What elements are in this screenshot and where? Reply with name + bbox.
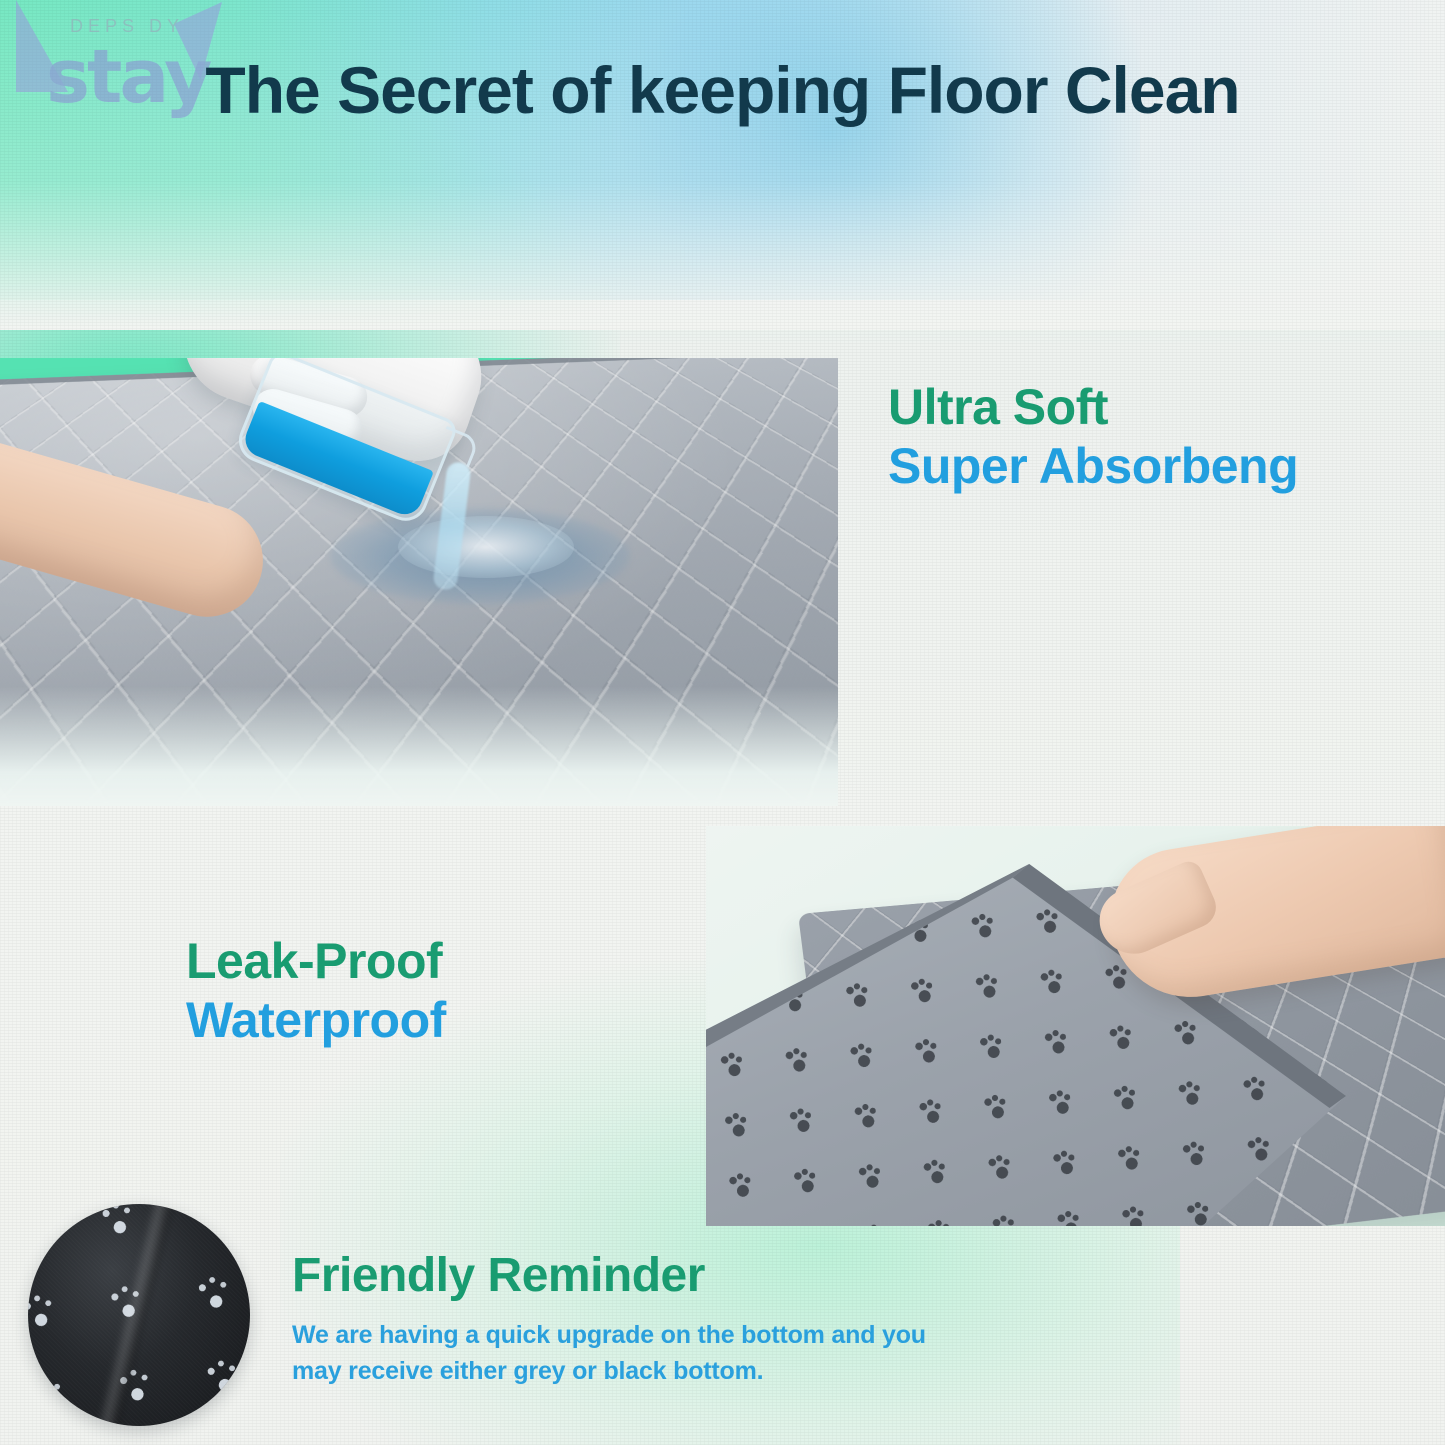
feature-block-left: Leak-Proof Waterproof	[186, 932, 646, 1050]
photo-bottom-fade	[0, 686, 838, 806]
page-title: The Secret of keeping Floor Clean	[0, 52, 1445, 128]
feature-block-right: Ultra Soft Super Absorbeng	[888, 378, 1388, 496]
photo-black-fabric-swatch	[28, 1204, 250, 1426]
friendly-reminder-block: Friendly Reminder We are having a quick …	[292, 1248, 982, 1389]
photo-folded-mat-pawprint-bottom	[706, 826, 1445, 1226]
liquid-splash	[398, 516, 574, 578]
photo-liquid-pour-test	[0, 358, 838, 806]
feature-leak-proof: Leak-Proof	[186, 932, 646, 991]
feature-super-absorbent: Super Absorbeng	[888, 437, 1388, 496]
feature-waterproof: Waterproof	[186, 991, 646, 1050]
reminder-title: Friendly Reminder	[292, 1248, 982, 1303]
fabric-grain-texture	[28, 1204, 250, 1426]
product-infographic-poster: DEPS DY stay The Secret of keeping Floor…	[0, 0, 1445, 1445]
reminder-body: We are having a quick upgrade on the bot…	[292, 1317, 982, 1389]
feature-ultra-soft: Ultra Soft	[888, 378, 1388, 437]
